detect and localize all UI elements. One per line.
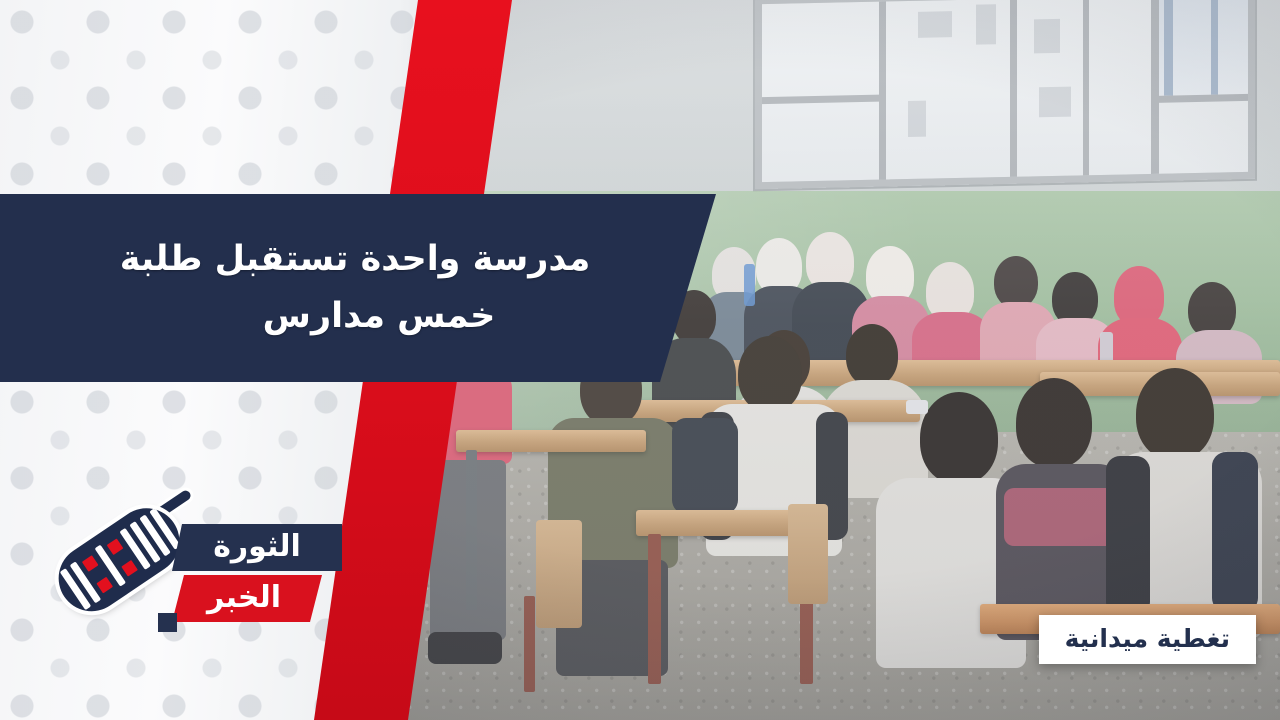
coverage-badge-label: تغطية ميدانية <box>1065 624 1230 653</box>
headline-banner: مدرسة واحدة تستقبل طلبة خمس مدارس <box>0 194 726 382</box>
coverage-badge: تغطية ميدانية <box>1039 615 1256 664</box>
headline-line-2: خمس مدارس <box>70 288 640 345</box>
headline-line-1: مدرسة واحدة تستقبل طلبة <box>70 231 640 288</box>
channel-name-group: الثورة الخبر <box>172 524 342 622</box>
broadcast-screenshot: مدرسة واحدة تستقبل طلبة خمس مدارس الثورة <box>0 0 1280 720</box>
logo-accent-square <box>158 613 177 632</box>
channel-logo: الثورة الخبر <box>46 500 346 670</box>
microphone-capsule <box>46 495 192 624</box>
channel-name-primary: الثورة <box>172 524 342 571</box>
channel-name-secondary: الخبر <box>172 575 322 622</box>
